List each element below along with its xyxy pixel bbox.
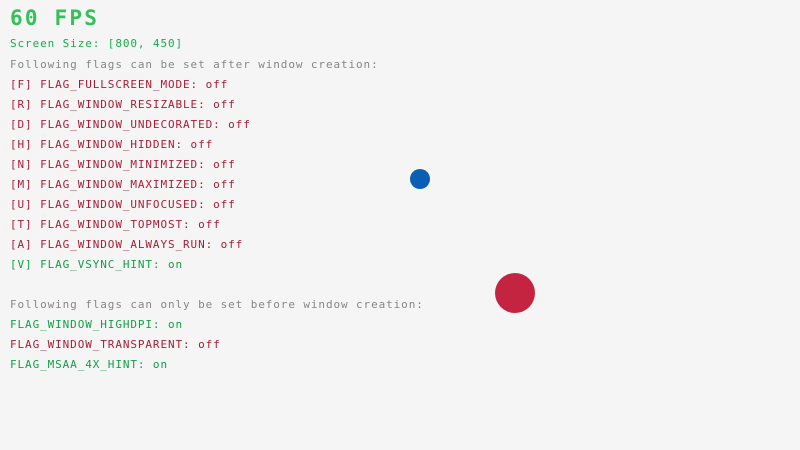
flag-row-flag-fullscreen-mode[interactable]: [F] FLAG_FULLSCREEN_MODE: off: [10, 78, 430, 98]
flag-row-flag-window-hidden[interactable]: [H] FLAG_WINDOW_HIDDEN: off: [10, 138, 430, 158]
flag-row-flag-window-topmost[interactable]: [T] FLAG_WINDOW_TOPMOST: off: [10, 218, 430, 238]
flag-row-flag-window-undecorated[interactable]: [D] FLAG_WINDOW_UNDECORATED: off: [10, 118, 430, 138]
section-header-after-creation: Following flags can be set after window …: [10, 58, 379, 71]
section-header-before-creation: Following flags can only be set before w…: [10, 298, 424, 311]
flag-row-flag-window-resizable[interactable]: [R] FLAG_WINDOW_RESIZABLE: off: [10, 98, 430, 118]
flag-row-flag-window-maximized[interactable]: [M] FLAG_WINDOW_MAXIMIZED: off: [10, 178, 430, 198]
flag-row-flag-msaa-4x-hint[interactable]: FLAG_MSAA_4X_HINT: on: [10, 358, 430, 378]
flag-row-flag-window-always-run[interactable]: [A] FLAG_WINDOW_ALWAYS_RUN: off: [10, 238, 430, 258]
ball-blue: [410, 169, 430, 189]
flag-row-flag-window-transparent[interactable]: FLAG_WINDOW_TRANSPARENT: off: [10, 338, 430, 358]
ball-red: [495, 273, 535, 313]
flag-row-flag-window-minimized[interactable]: [N] FLAG_WINDOW_MINIMIZED: off: [10, 158, 430, 178]
app-window: 60 FPS Screen Size: [800, 450] Following…: [0, 0, 800, 450]
screen-size-label: Screen Size: [800, 450]: [10, 37, 183, 50]
flag-list-before-creation: FLAG_WINDOW_HIGHDPI: onFLAG_WINDOW_TRANS…: [10, 318, 430, 378]
flag-row-flag-window-highdpi[interactable]: FLAG_WINDOW_HIGHDPI: on: [10, 318, 430, 338]
flag-row-flag-window-unfocused[interactable]: [U] FLAG_WINDOW_UNFOCUSED: off: [10, 198, 430, 218]
flag-row-flag-vsync-hint[interactable]: [V] FLAG_VSYNC_HINT: on: [10, 258, 430, 278]
fps-counter: 60 FPS: [10, 6, 99, 30]
flag-list-after-creation: [F] FLAG_FULLSCREEN_MODE: off[R] FLAG_WI…: [10, 78, 430, 278]
